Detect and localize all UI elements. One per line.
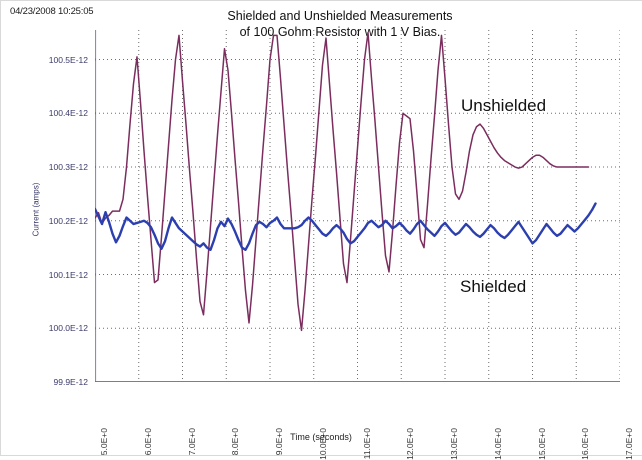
- y-tick-label: 100.3E-12: [49, 162, 88, 172]
- y-axis-tick-labels: 99.9E-12100.0E-12100.1E-12100.2E-12100.3…: [0, 30, 92, 382]
- chart-screenshot: 04/23/2008 10:25:05 Shielded and Unshiel…: [0, 0, 642, 455]
- y-tick-label: 99.9E-12: [54, 377, 89, 387]
- y-tick-label: 100.2E-12: [49, 216, 88, 226]
- plot-svg: [95, 30, 620, 382]
- series-label-unshielded: Unshielded: [461, 96, 546, 116]
- y-tick-label: 100.4E-12: [49, 108, 88, 118]
- series-line-shielded: [95, 204, 596, 250]
- capture-timestamp: 04/23/2008 10:25:05: [10, 6, 93, 17]
- y-tick-label: 100.0E-12: [49, 323, 88, 333]
- x-axis-title: Time (seconds): [0, 432, 642, 442]
- y-tick-label: 100.1E-12: [49, 270, 88, 280]
- chart-title-line-1: Shielded and Unshielded Measurements: [150, 8, 530, 24]
- x-axis-tick-labels: 5.0E+06.0E+07.0E+08.0E+09.0E+010.0E+011.…: [95, 384, 620, 430]
- y-tick-label: 100.5E-12: [49, 55, 88, 65]
- series-label-shielded: Shielded: [460, 277, 526, 297]
- plot-area: [95, 30, 620, 382]
